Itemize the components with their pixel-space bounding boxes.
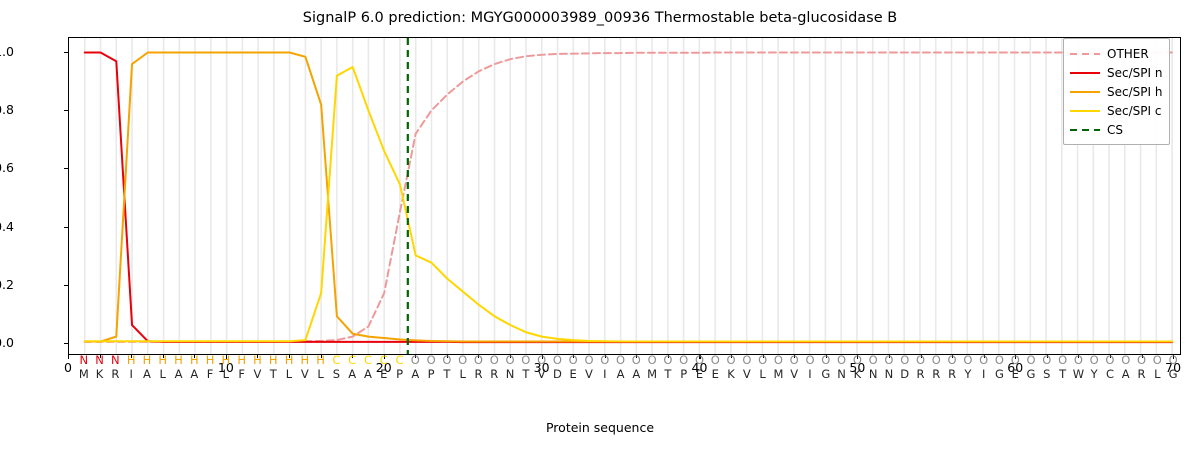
data-layer [69, 38, 1180, 354]
y-tick-label: 1.0 [0, 44, 14, 59]
y-tick-mark [64, 52, 68, 53]
series-line-sec-spi-c [85, 67, 1172, 342]
y-tick-mark [64, 227, 68, 228]
x-axis-label: Protein sequence [0, 420, 1200, 435]
y-tick-mark [64, 110, 68, 111]
legend-swatch [1070, 124, 1100, 135]
plot-area [68, 37, 1181, 355]
legend-item-cs: CS [1070, 120, 1162, 139]
legend-swatch [1070, 105, 1100, 116]
legend-label: Sec/SPI h [1107, 85, 1162, 99]
y-tick-label: 0.0 [0, 335, 14, 350]
y-tick-label: 0.6 [0, 160, 14, 175]
amino-acid-sequence-row: MKRIALAAFLFVTLVLSAAEPAPTLRRNTVDEVIAAMTPE… [68, 366, 1181, 382]
y-tick-label: 0.2 [0, 277, 14, 292]
legend-item-sec-spi-c: Sec/SPI c [1070, 101, 1162, 120]
legend-label: Sec/SPI n [1107, 66, 1162, 80]
chart-title: SignalP 6.0 prediction: MGYG000003989_00… [0, 10, 1200, 26]
y-tick-mark [64, 168, 68, 169]
legend-swatch [1070, 48, 1100, 59]
y-tick-label: 0.8 [0, 102, 14, 117]
legend-label: OTHER [1107, 47, 1149, 61]
series-line-other [85, 52, 1172, 341]
y-tick-mark [64, 343, 68, 344]
residue-letter: G [1162, 366, 1184, 382]
series-line-sec-spi-h [85, 52, 1172, 341]
legend-label: Sec/SPI c [1107, 104, 1161, 118]
legend-item-sec-spi-h: Sec/SPI h [1070, 82, 1162, 101]
legend: OTHERSec/SPI nSec/SPI hSec/SPI cCS [1063, 38, 1170, 145]
legend-item-other: OTHER [1070, 44, 1162, 63]
legend-item-sec-spi-n: Sec/SPI n [1070, 63, 1162, 82]
y-tick-label: 0.4 [0, 219, 14, 234]
legend-swatch [1070, 86, 1100, 97]
y-tick-mark [64, 285, 68, 286]
series-line-sec-spi-n [85, 52, 1172, 342]
legend-label: CS [1107, 123, 1123, 137]
signalp-prediction-figure: SignalP 6.0 prediction: MGYG000003989_00… [0, 0, 1200, 450]
legend-swatch [1070, 67, 1100, 78]
